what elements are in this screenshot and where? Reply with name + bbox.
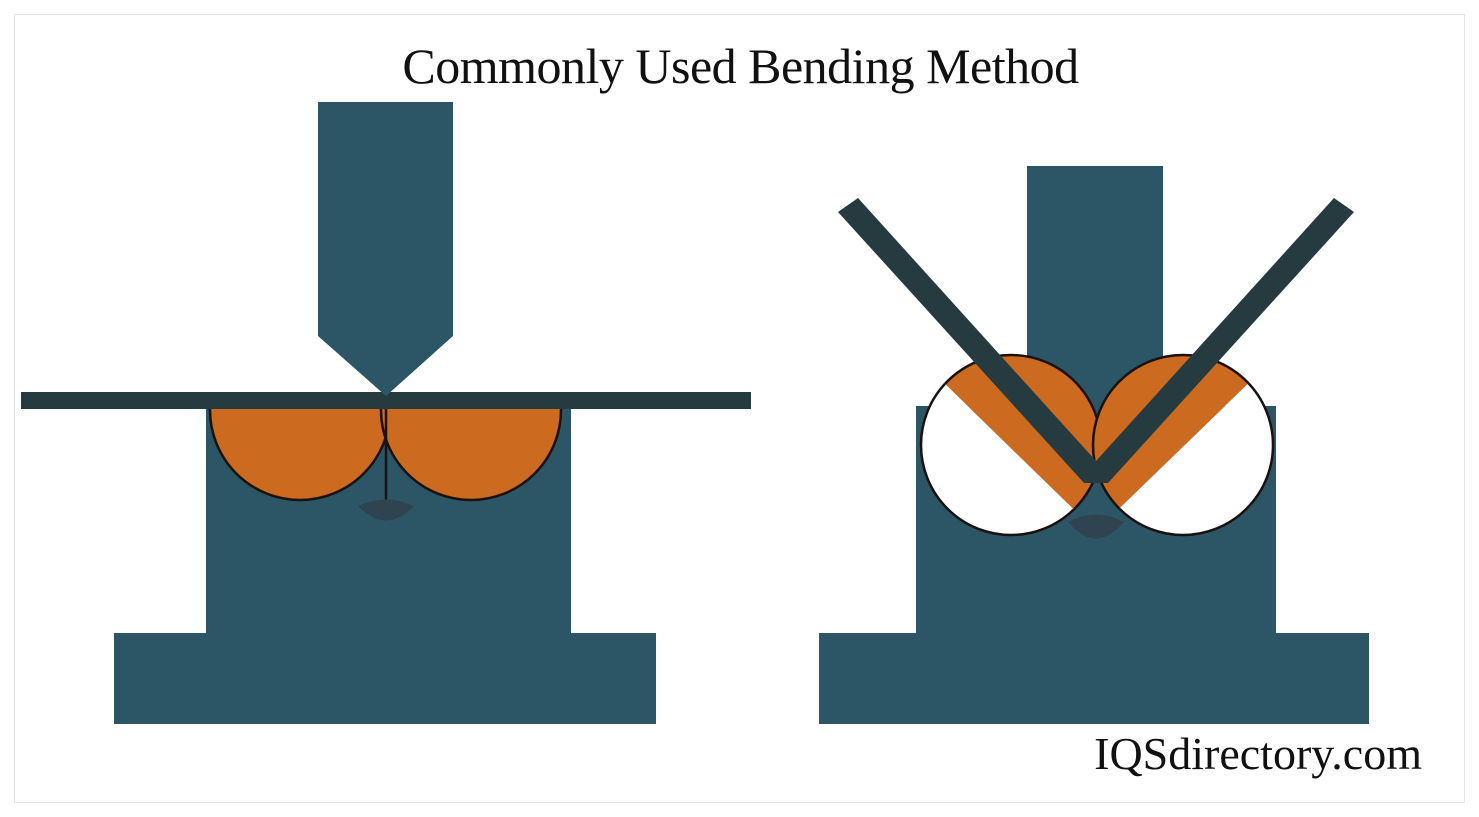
watermark-text: IQSdirectory.com	[1094, 728, 1422, 780]
punch-left	[318, 102, 453, 396]
die-base-left	[114, 633, 656, 724]
bending-method-illustration	[15, 15, 1466, 804]
panel-after-bending	[819, 166, 1369, 724]
panel-before-bending	[21, 102, 751, 724]
image-frame: Commonly Used Bending Method	[14, 14, 1465, 803]
die-base-right	[819, 633, 1369, 724]
screenshot-root: Commonly Used Bending Method	[0, 0, 1479, 817]
illustration-svg	[15, 15, 1466, 804]
